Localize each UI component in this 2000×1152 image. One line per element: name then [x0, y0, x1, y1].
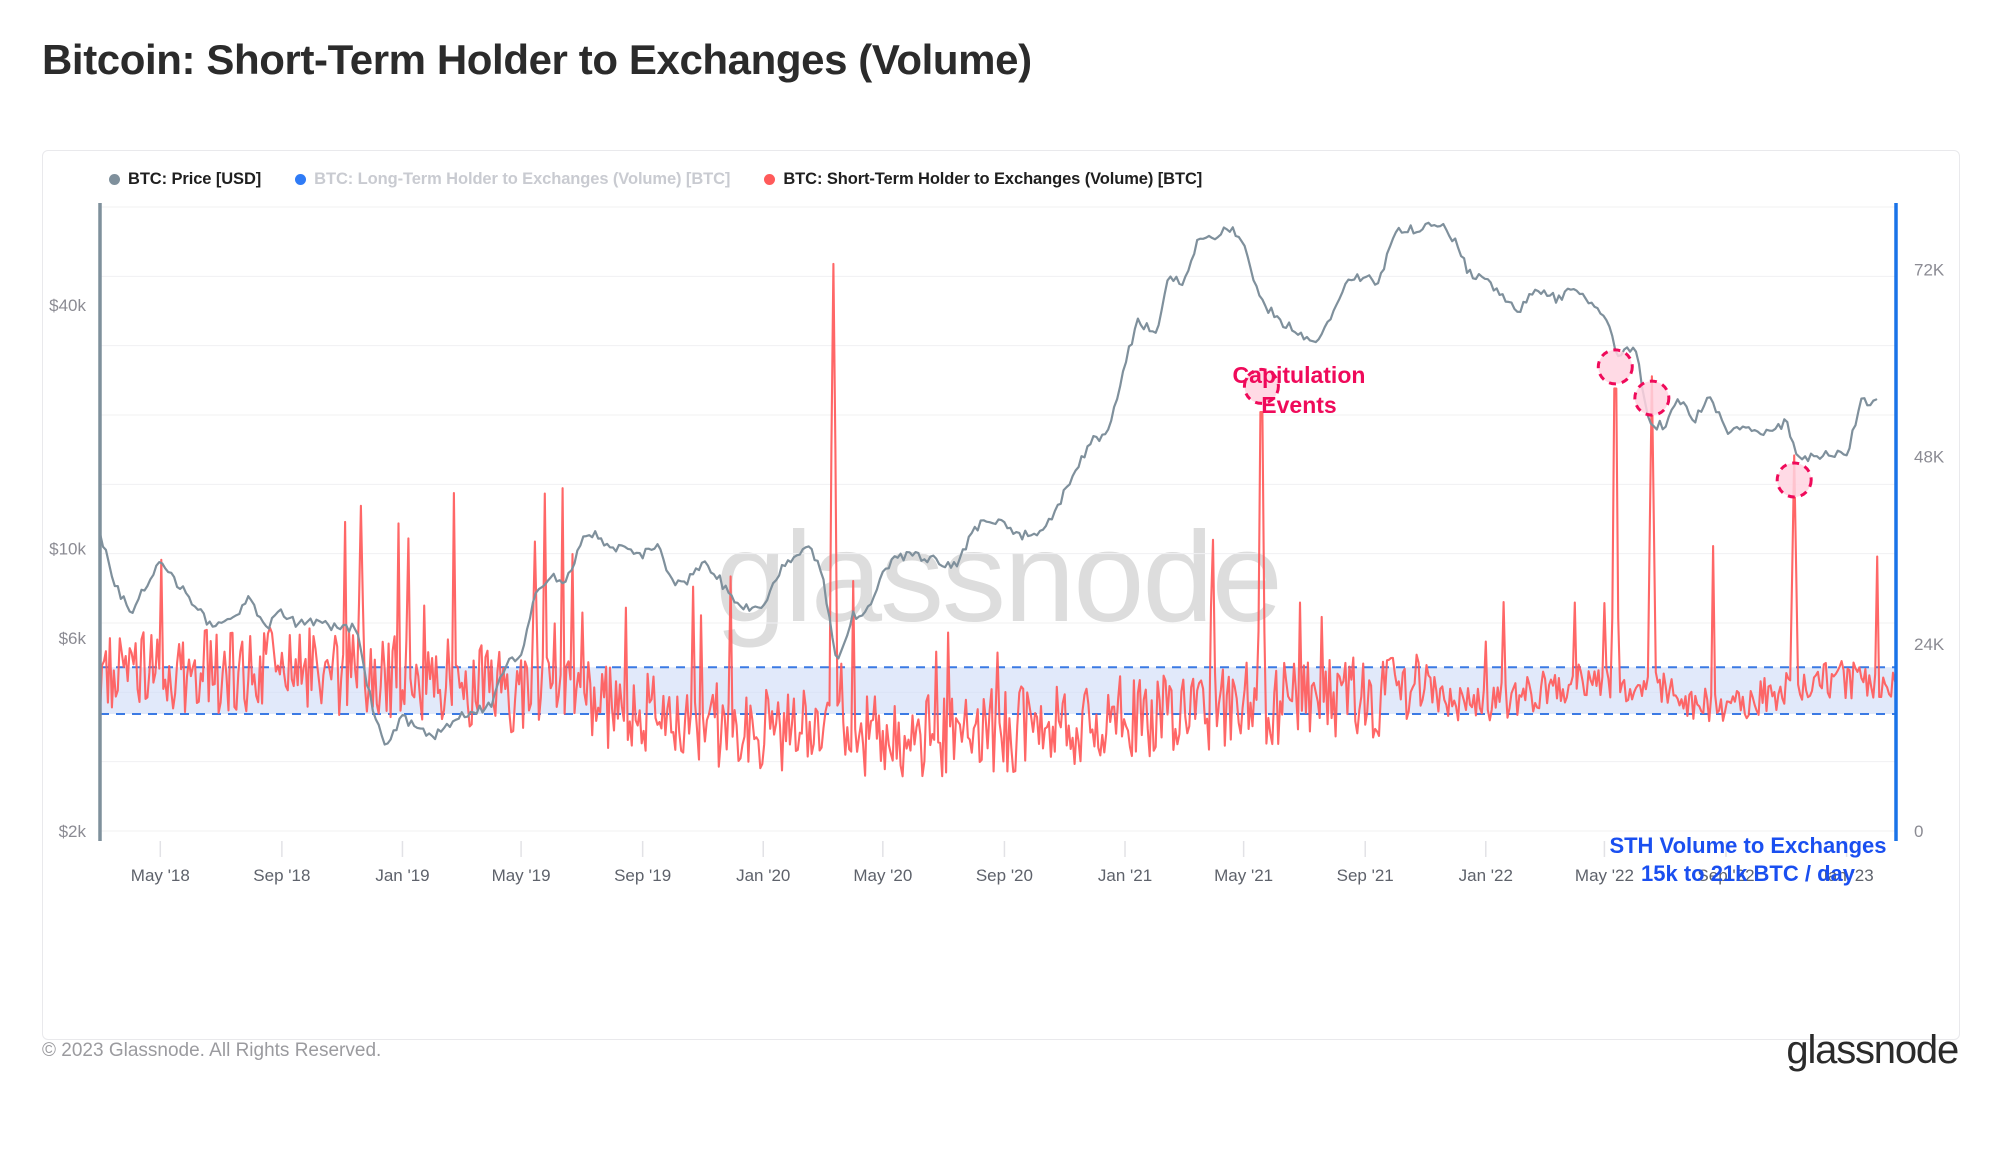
band-annotation-line2: 15k to 21k BTC / day [1641, 861, 1856, 886]
x-axis-tick-label: Sep '19 [614, 866, 671, 885]
capitulation-marker[interactable] [1635, 381, 1669, 415]
left-axis-tick-label: $10k [49, 540, 86, 559]
copyright-text: © 2023 Glassnode. All Rights Reserved. [42, 1040, 381, 1062]
plot-area: glassnode $40k$10k$6k$2k72K48K24K0May '1… [43, 151, 1959, 1039]
capitulation-annotation-line2: Events [1261, 392, 1336, 418]
left-axis-ticks: $40k$10k$6k$2k [49, 296, 86, 841]
chart-annotations: CapitulationEventsSTH Volume to Exchange… [1233, 362, 1887, 886]
right-axis-tick-label: 24K [1914, 635, 1945, 654]
chart-page: Bitcoin: Short-Term Holder to Exchanges … [0, 0, 2000, 1152]
chart-card: BTC: Price [USD] BTC: Long-Term Holder t… [42, 150, 1960, 1040]
watermark-text: glassnode [715, 506, 1281, 649]
capitulation-marker[interactable] [1777, 463, 1811, 497]
x-axis-tick-label: May '18 [131, 866, 190, 885]
x-axis-tick-label: Jan '22 [1459, 866, 1513, 885]
x-axis-tick-label: Jan '21 [1098, 866, 1152, 885]
x-axis-tick-label: Jan '19 [375, 866, 429, 885]
x-axis-tick-label: Sep '21 [1337, 866, 1394, 885]
x-axis-tick-label: May '21 [1214, 866, 1273, 885]
x-axis-tick-label: May '19 [492, 866, 551, 885]
watermark: glassnode [715, 506, 1281, 649]
glassnode-logo: glassnode [1786, 1028, 1958, 1073]
right-axis-tick-label: 0 [1914, 822, 1923, 841]
band-annotation-line1: STH Volume to Exchanges [1609, 833, 1886, 858]
x-axis-tick-label: Sep '18 [253, 866, 310, 885]
right-axis-ticks: 72K48K24K0 [1914, 260, 1945, 841]
left-axis-tick-label: $2k [59, 822, 87, 841]
page-title: Bitcoin: Short-Term Holder to Exchanges … [42, 36, 1032, 84]
right-axis-tick-label: 48K [1914, 448, 1945, 467]
capitulation-annotation-line1: Capitulation [1233, 362, 1366, 388]
chart-svg: glassnode $40k$10k$6k$2k72K48K24K0May '1… [43, 151, 1961, 1041]
capitulation-marker[interactable] [1598, 350, 1632, 384]
right-axis-tick-label: 72K [1914, 260, 1945, 279]
x-axis-tick-label: Sep '20 [976, 866, 1033, 885]
left-axis-tick-label: $6k [59, 629, 87, 648]
x-axis-tick-label: May '22 [1575, 866, 1634, 885]
left-axis-tick-label: $40k [49, 296, 86, 315]
x-axis-tick-label: May '20 [853, 866, 912, 885]
x-axis-tick-label: Jan '20 [736, 866, 790, 885]
